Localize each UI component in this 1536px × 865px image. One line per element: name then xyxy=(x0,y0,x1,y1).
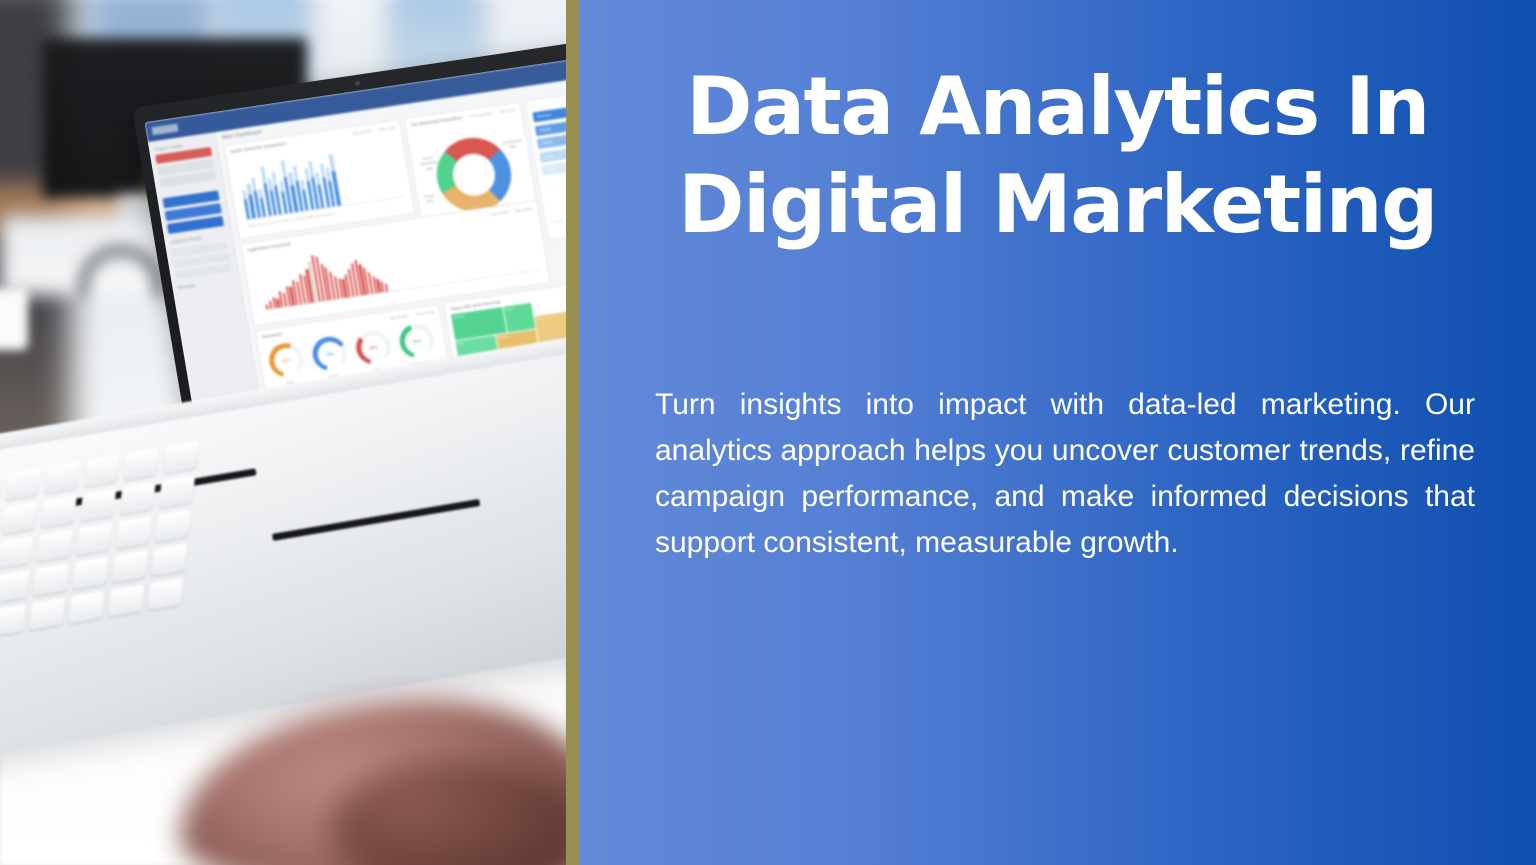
key xyxy=(0,474,2,507)
body-copy: Turn insights into impact with data-led … xyxy=(655,382,1475,566)
key xyxy=(84,454,121,487)
title-line-1: Data Analytics In xyxy=(686,60,1429,153)
content-panel: Data Analytics In Digital Marketing Turn… xyxy=(579,0,1536,865)
gold-divider xyxy=(566,0,579,865)
key xyxy=(163,441,200,474)
key xyxy=(0,536,34,569)
key xyxy=(0,570,30,603)
page-title: Data Analytics In Digital Marketing xyxy=(579,58,1536,255)
key xyxy=(112,550,149,583)
key xyxy=(0,604,26,637)
key xyxy=(147,577,184,610)
key xyxy=(68,591,105,624)
key xyxy=(5,468,42,501)
key xyxy=(40,495,77,528)
key xyxy=(108,584,145,617)
key xyxy=(29,597,66,630)
hero-photo: Main Dashboard Project / Status Cases by… xyxy=(0,0,566,865)
key xyxy=(72,557,109,590)
key xyxy=(1,502,38,535)
key xyxy=(80,488,117,521)
key xyxy=(159,475,196,508)
body-paragraph: Turn insights into impact with data-led … xyxy=(655,382,1475,566)
key xyxy=(76,523,113,556)
key xyxy=(123,448,160,481)
key xyxy=(37,529,74,562)
key xyxy=(44,461,81,494)
title-line-2: Digital Marketing xyxy=(619,156,1496,254)
key xyxy=(33,563,70,596)
key xyxy=(151,543,188,576)
laptop: Main Dashboard Project / Status Cases by… xyxy=(0,0,566,865)
key xyxy=(119,482,156,515)
key xyxy=(155,509,192,542)
slide-canvas: Main Dashboard Project / Status Cases by… xyxy=(0,0,1536,865)
key xyxy=(115,516,152,549)
